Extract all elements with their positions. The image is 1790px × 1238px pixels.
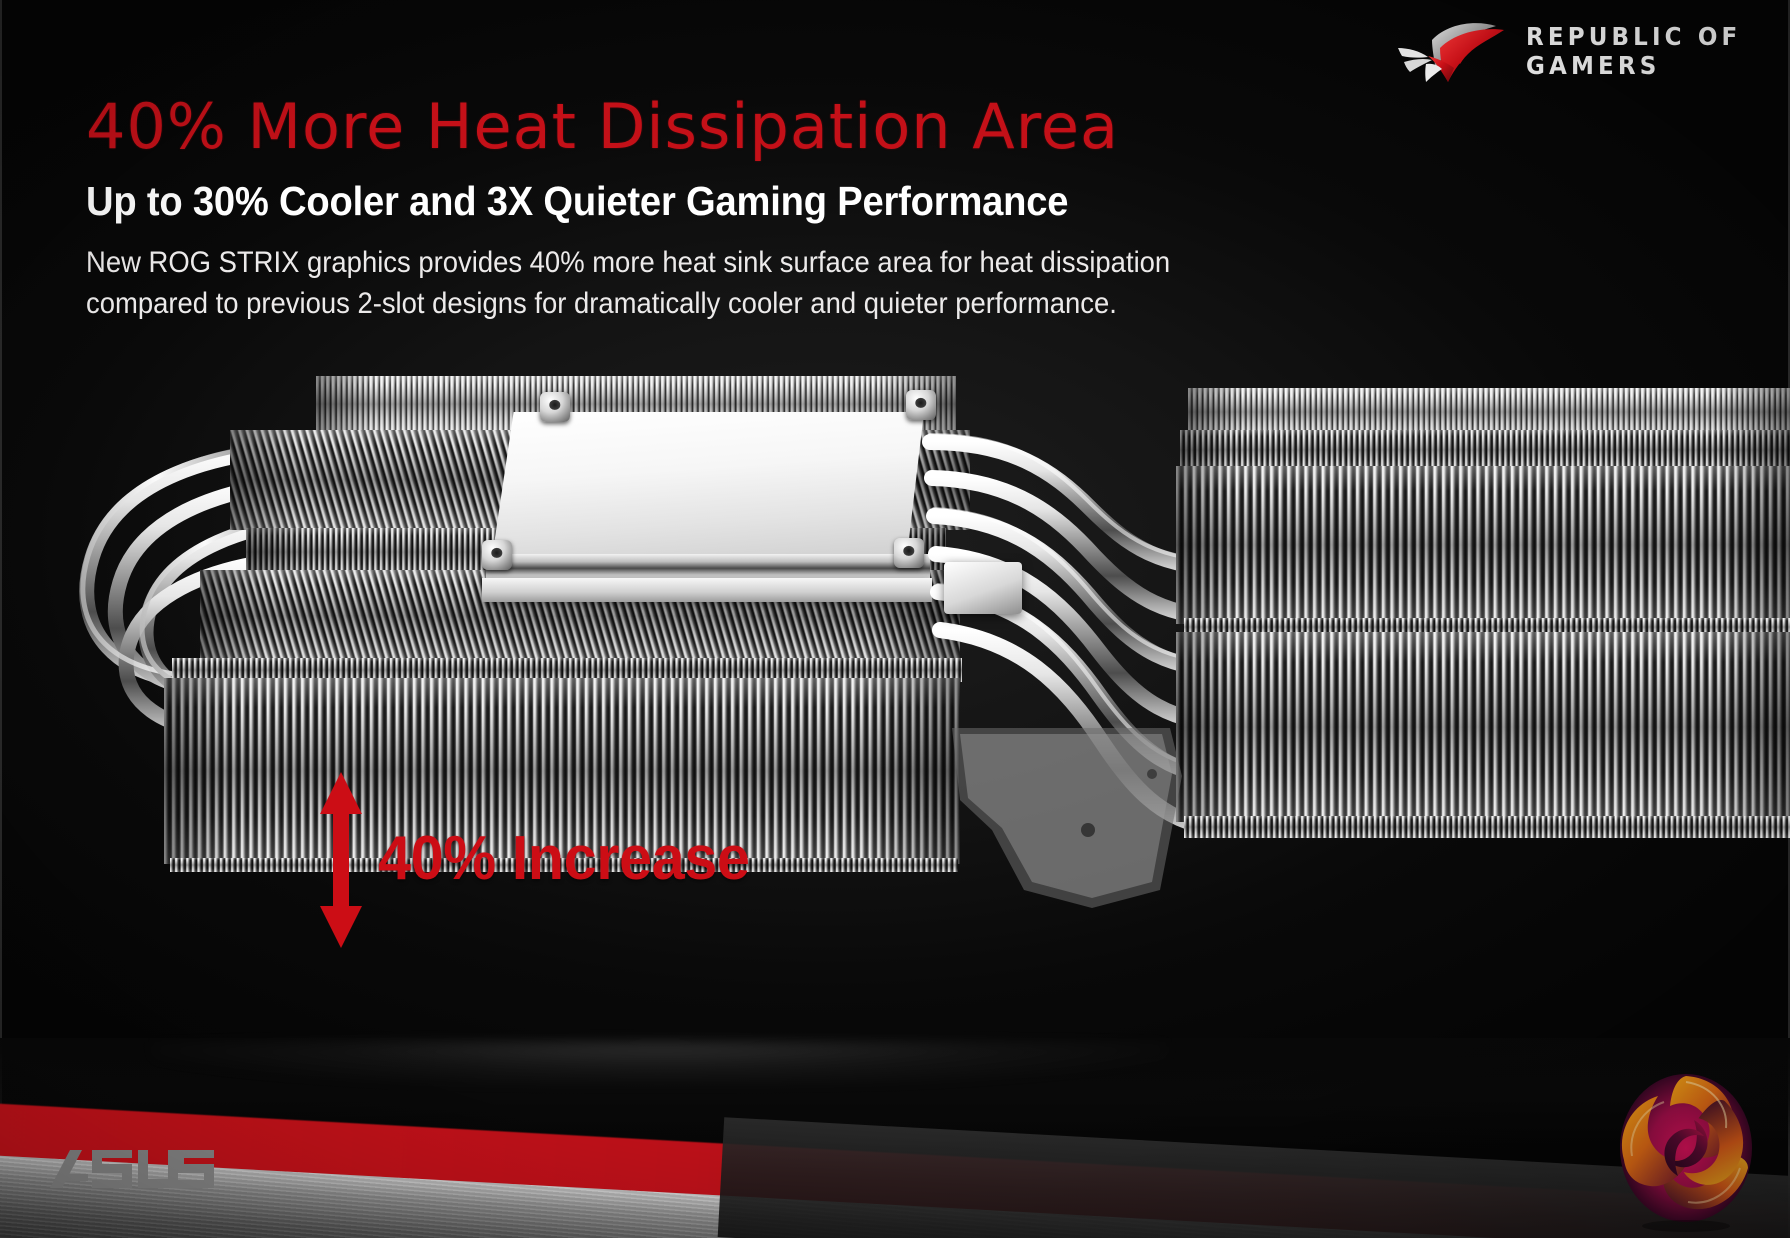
body-line-2: compared to previous 2-slot designs for …: [86, 284, 1295, 325]
rog-eye-icon: [1392, 18, 1510, 84]
page-title: 40% More Heat Dissipation Area: [86, 96, 1386, 158]
asus-logo-icon: [48, 1148, 216, 1190]
support-bracket: [0, 330, 1790, 990]
rog-wordmark: REPUBLIC OF GAMERS: [1526, 24, 1741, 78]
rog-flame-emblem-icon: [1608, 1064, 1764, 1232]
rog-wordmark-line-2: GAMERS: [1526, 53, 1741, 79]
rog-wordmark-line-1: REPUBLIC OF: [1526, 24, 1741, 50]
rog-brand-lockup: REPUBLIC OF GAMERS: [1392, 18, 1760, 84]
product-photo-heatsink: [0, 330, 1790, 990]
body-copy: New ROG STRIX graphics provides 40% more…: [86, 243, 1295, 324]
page-subtitle: Up to 30% Cooler and 3X Quieter Gaming P…: [86, 180, 1295, 223]
increase-arrow-icon: [318, 770, 364, 950]
text-block: 40% More Heat Dissipation Area Up to 30%…: [86, 96, 1386, 324]
slide-root: 40% Increase 40% More Heat Dissipation A…: [0, 0, 1790, 1238]
increase-callout-label: 40% Increase: [378, 828, 749, 890]
body-line-1: New ROG STRIX graphics provides 40% more…: [86, 243, 1295, 284]
product-reflection: [150, 1042, 1170, 1086]
